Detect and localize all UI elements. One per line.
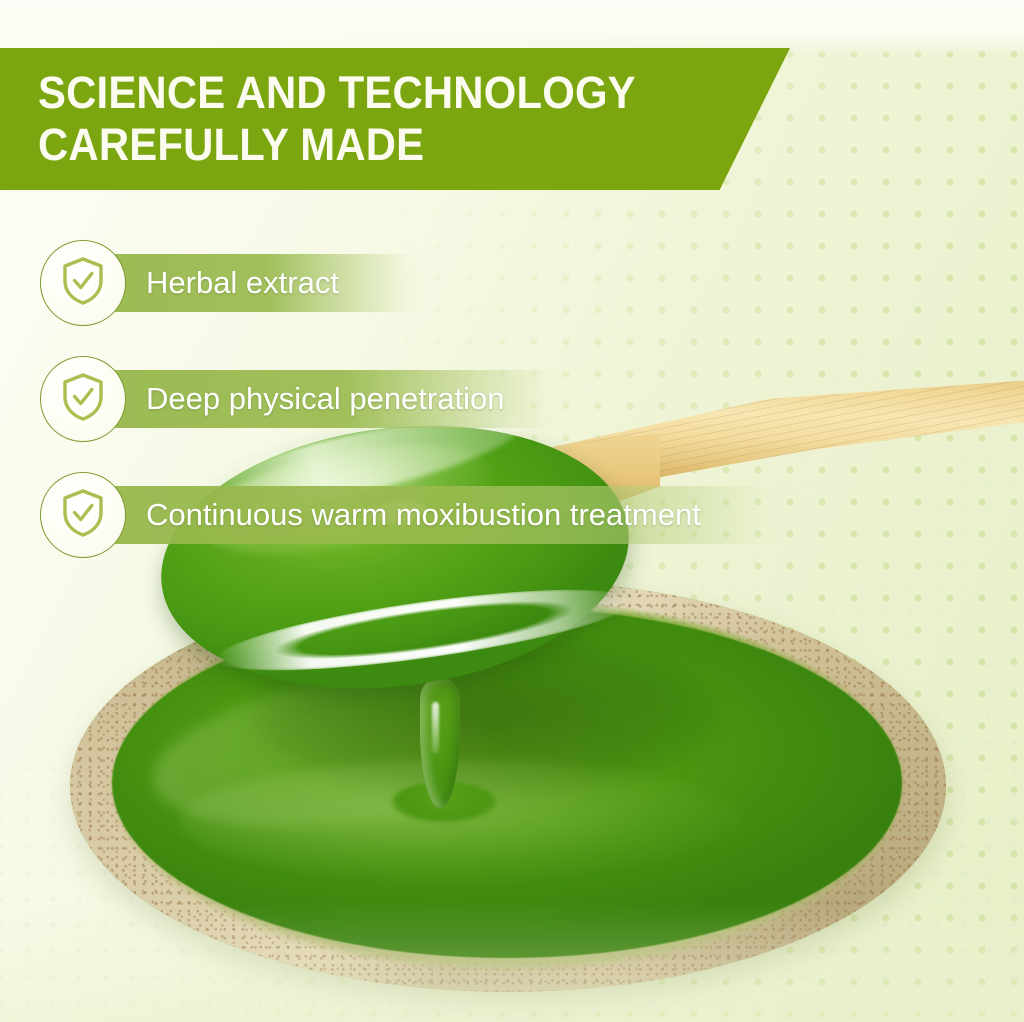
banner-title-line-2: CAREFULLY MADE bbox=[38, 119, 737, 171]
feature-list: Herbal extract Deep physical penetration bbox=[40, 240, 940, 588]
shield-check-icon bbox=[60, 372, 106, 427]
shield-check-icon bbox=[60, 488, 106, 543]
banner-title-line-1: SCIENCE AND TECHNOLOGY bbox=[38, 67, 737, 119]
feature-badge bbox=[40, 356, 126, 442]
feature-label: Continuous warm moxibustion treatment bbox=[146, 498, 701, 532]
drip-highlight bbox=[432, 702, 439, 754]
header-banner: SCIENCE AND TECHNOLOGY CAREFULLY MADE bbox=[0, 48, 790, 190]
feature-label: Herbal extract bbox=[146, 266, 339, 300]
feature-badge bbox=[40, 240, 126, 326]
shield-check-icon bbox=[60, 256, 106, 311]
product-feature-poster: SCIENCE AND TECHNOLOGY CAREFULLY MADE He… bbox=[0, 0, 1024, 1022]
background-top-wash bbox=[0, 0, 1024, 56]
feature-item: Herbal extract bbox=[40, 240, 940, 326]
feature-item: Continuous warm moxibustion treatment bbox=[40, 472, 940, 558]
feature-item: Deep physical penetration bbox=[40, 356, 940, 442]
feature-label: Deep physical penetration bbox=[146, 382, 504, 416]
feature-badge bbox=[40, 472, 126, 558]
